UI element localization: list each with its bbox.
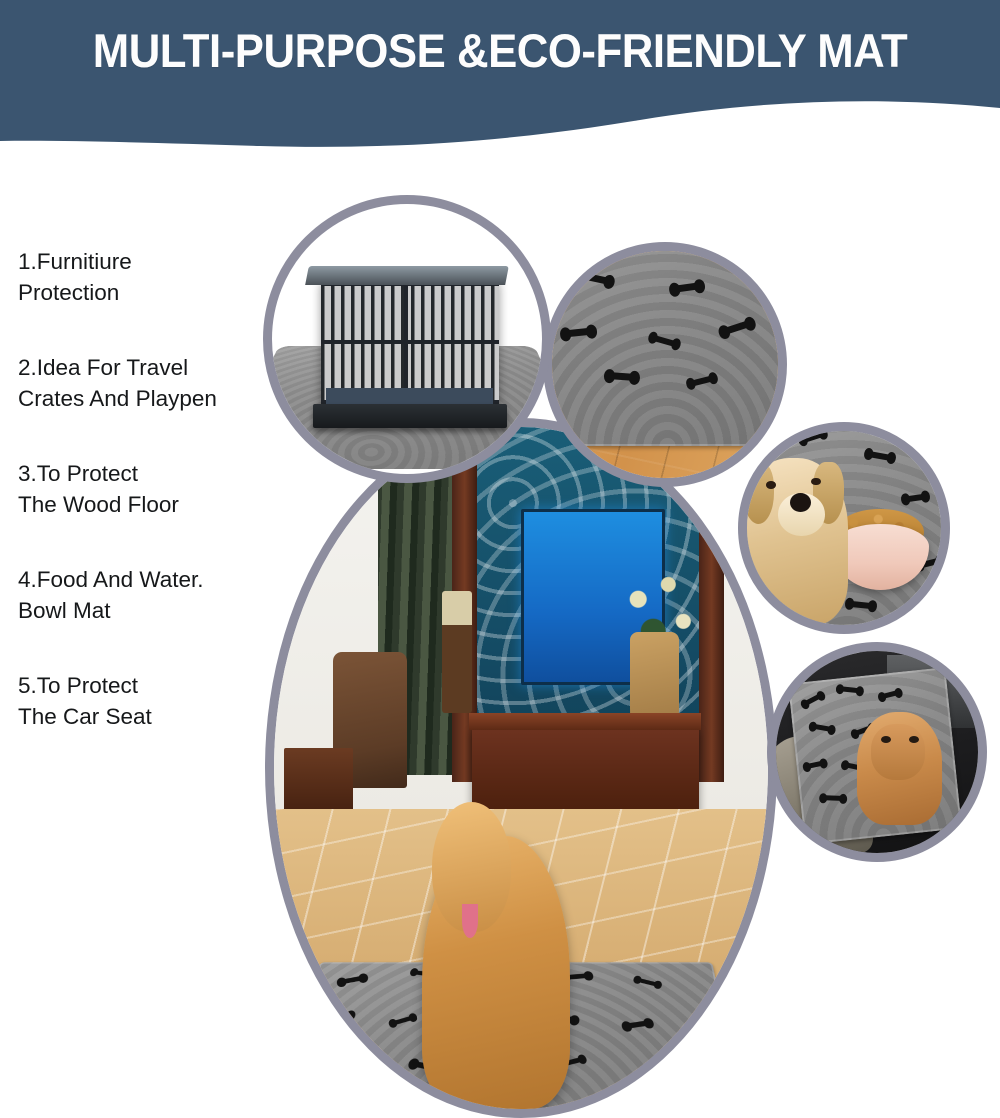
- car-seat-photo: [767, 642, 987, 862]
- food-bowl-scene: [747, 431, 941, 625]
- feature-list: 1.Furnitiure Protection 2.Idea For Trave…: [18, 246, 280, 776]
- puppy-eye-left: [881, 736, 891, 743]
- puppy-face: [871, 724, 926, 781]
- living-room-scene: [274, 427, 768, 1109]
- crate-tray: [326, 388, 493, 404]
- dog-crate-photo: [263, 195, 551, 483]
- photo-collage: [255, 170, 1000, 946]
- feature-item-2: 2.Idea For Travel Crates And Playpen: [18, 352, 280, 414]
- header-banner: MULTI-PURPOSE &ECO-FRIENDLY MAT: [0, 0, 1000, 150]
- crate-base: [313, 404, 507, 428]
- dog-eye-right: [811, 478, 821, 486]
- table-lamp: [442, 591, 472, 714]
- crate-rail-mid: [321, 340, 499, 344]
- car-seat-scene: [776, 651, 978, 853]
- feature-item-5: 5.To Protect The Car Seat: [18, 670, 280, 732]
- coffee-table: [284, 748, 353, 816]
- console-top: [469, 713, 701, 729]
- feature-item-4: 4.Food And Water. Bowl Mat: [18, 564, 280, 626]
- mat-on-wood: [543, 242, 787, 446]
- living-room-photo: [265, 418, 777, 1118]
- wood-floor-scene: [552, 251, 778, 478]
- dog-ear-left: [743, 462, 774, 524]
- food-bowl-photo: [738, 422, 950, 634]
- dog-tongue: [462, 904, 478, 938]
- feature-item-1: 1.Furnitiure Protection: [18, 246, 280, 308]
- feature-item-3: 3.To Protect The Wood Floor: [18, 458, 280, 520]
- crate-scene: [272, 204, 542, 474]
- crate-roof: [305, 266, 508, 285]
- page-title: MULTI-PURPOSE &ECO-FRIENDLY MAT: [35, 22, 965, 80]
